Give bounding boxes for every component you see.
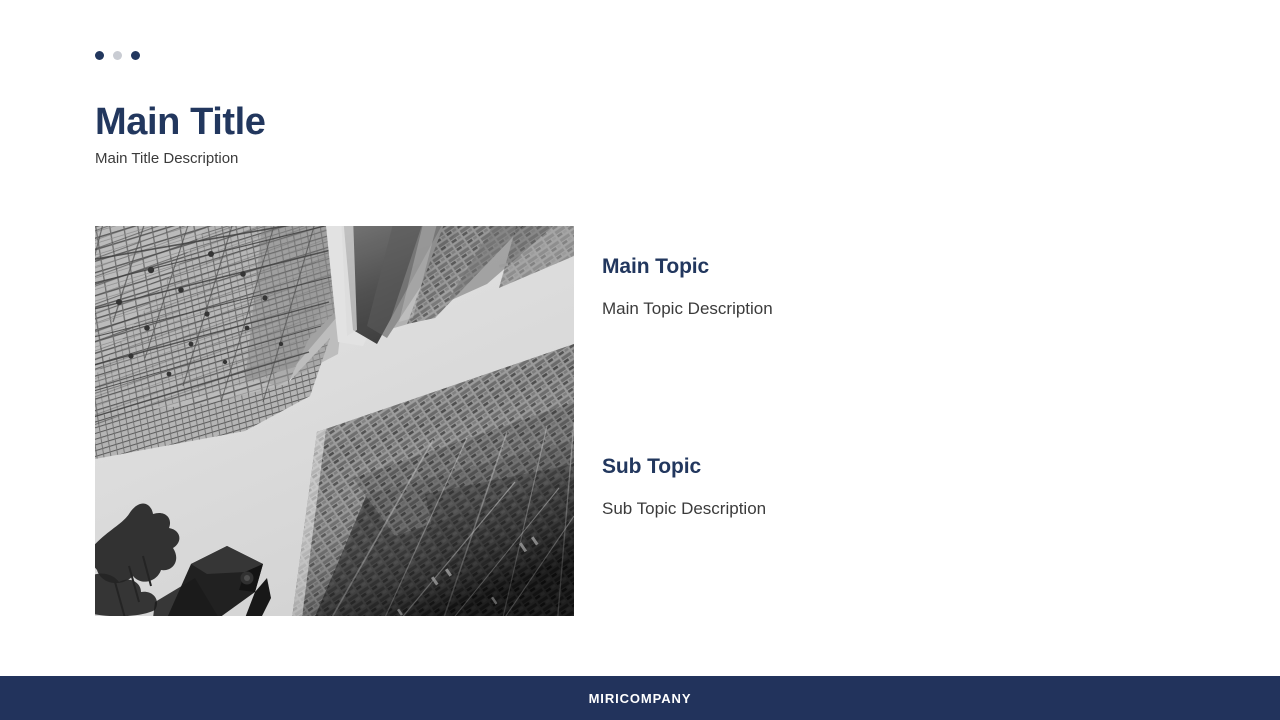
slide-canvas: Main Title Main Title Description bbox=[0, 0, 1280, 720]
dot-2-icon bbox=[113, 51, 122, 60]
topic-block-sub: Sub Topic Sub Topic Description bbox=[602, 453, 766, 521]
topic-heading-main: Main Topic bbox=[602, 253, 773, 280]
page-title: Main Title bbox=[95, 99, 266, 145]
footer-bar: MIRICOMPANY bbox=[0, 676, 1280, 720]
building-photo bbox=[95, 226, 574, 616]
building-photo-illustration bbox=[95, 226, 574, 616]
topic-description-sub: Sub Topic Description bbox=[602, 497, 766, 521]
decor-dot-row bbox=[95, 51, 140, 60]
page-subtitle: Main Title Description bbox=[95, 149, 238, 169]
dot-3-icon bbox=[131, 51, 140, 60]
footer-company-name: MIRICOMPANY bbox=[589, 691, 692, 706]
dot-1-icon bbox=[95, 51, 104, 60]
topic-block-main: Main Topic Main Topic Description bbox=[602, 253, 773, 321]
topic-heading-sub: Sub Topic bbox=[602, 453, 766, 480]
topic-description-main: Main Topic Description bbox=[602, 297, 773, 321]
